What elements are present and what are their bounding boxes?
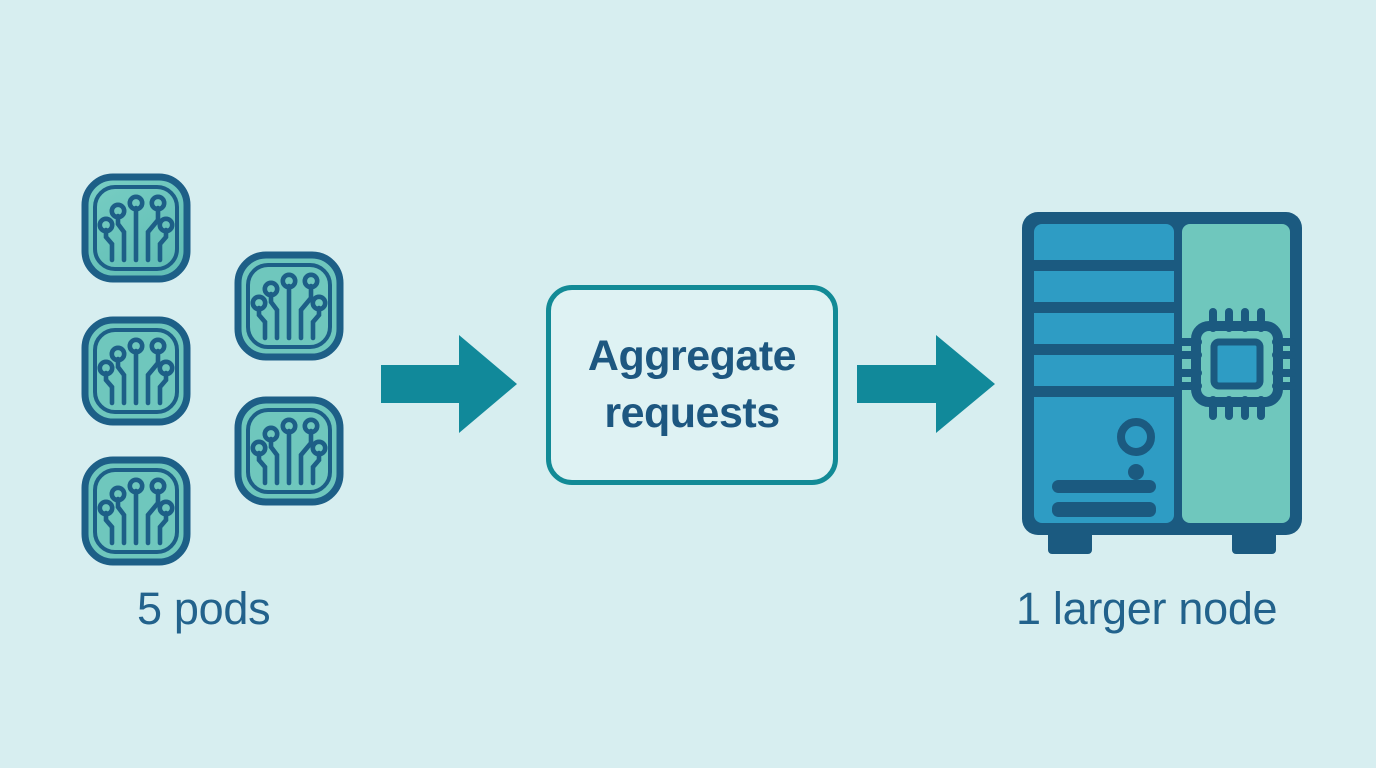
aggregate-requests-box: Aggregate requests [546,285,838,485]
arrow-aggregate-to-node-icon [857,334,995,434]
pod-icon-1 [80,172,192,284]
diagram-canvas: Aggregate requests [0,0,1376,768]
arrow-pods-to-aggregate-icon [381,334,517,434]
pod-icon-4 [233,250,345,362]
aggregate-box-line-2: requests [604,385,779,442]
right-arrow-icon [381,334,517,434]
circuit-chip-icon [233,250,345,362]
pod-icon-2 [80,315,192,427]
circuit-chip-icon [80,455,192,567]
right-arrow-icon [857,334,995,434]
caption-larger-node: 1 larger node [1016,583,1277,635]
server-tower-icon [1014,204,1310,564]
server-tower-graphic [1014,204,1310,564]
circuit-chip-icon [80,315,192,427]
aggregate-box-line-1: Aggregate [588,328,796,385]
pod-icon-5 [233,395,345,507]
status-led-icon [1128,464,1144,480]
caption-pods: 5 pods [137,583,270,635]
circuit-chip-icon [233,395,345,507]
cpu-chip-icon [1182,312,1292,416]
pod-icon-3 [80,455,192,567]
circuit-chip-icon [80,172,192,284]
